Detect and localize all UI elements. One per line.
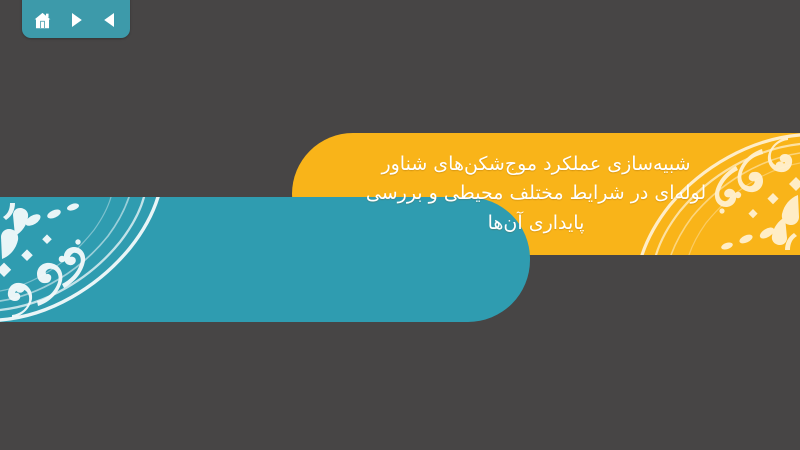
title-line-2: لوله‌ای در شرایط مختلف محیطی و بررسی	[366, 180, 706, 208]
triangle-left-icon	[101, 11, 119, 29]
slide-navigation-bar	[22, 0, 130, 38]
title-banner-orange: شبیه‌سازی عملکرد موج‌شکن‌های شناور لوله‌…	[292, 133, 800, 255]
title-line-3: پایداری آن‌ها	[488, 210, 585, 238]
previous-slide-button[interactable]	[99, 9, 121, 31]
arabesque-ornament-icon	[0, 197, 190, 322]
next-slide-button[interactable]	[65, 9, 87, 31]
home-button[interactable]	[31, 9, 53, 31]
slide-canvas: شبیه‌سازی عملکرد موج‌شکن‌های شناور لوله‌…	[0, 0, 800, 450]
triangle-right-icon	[67, 11, 85, 29]
title-line-1: شبیه‌سازی عملکرد موج‌شکن‌های شناور	[381, 151, 690, 179]
slide-title: شبیه‌سازی عملکرد موج‌شکن‌های شناور لوله‌…	[326, 133, 746, 255]
home-icon	[32, 10, 53, 31]
